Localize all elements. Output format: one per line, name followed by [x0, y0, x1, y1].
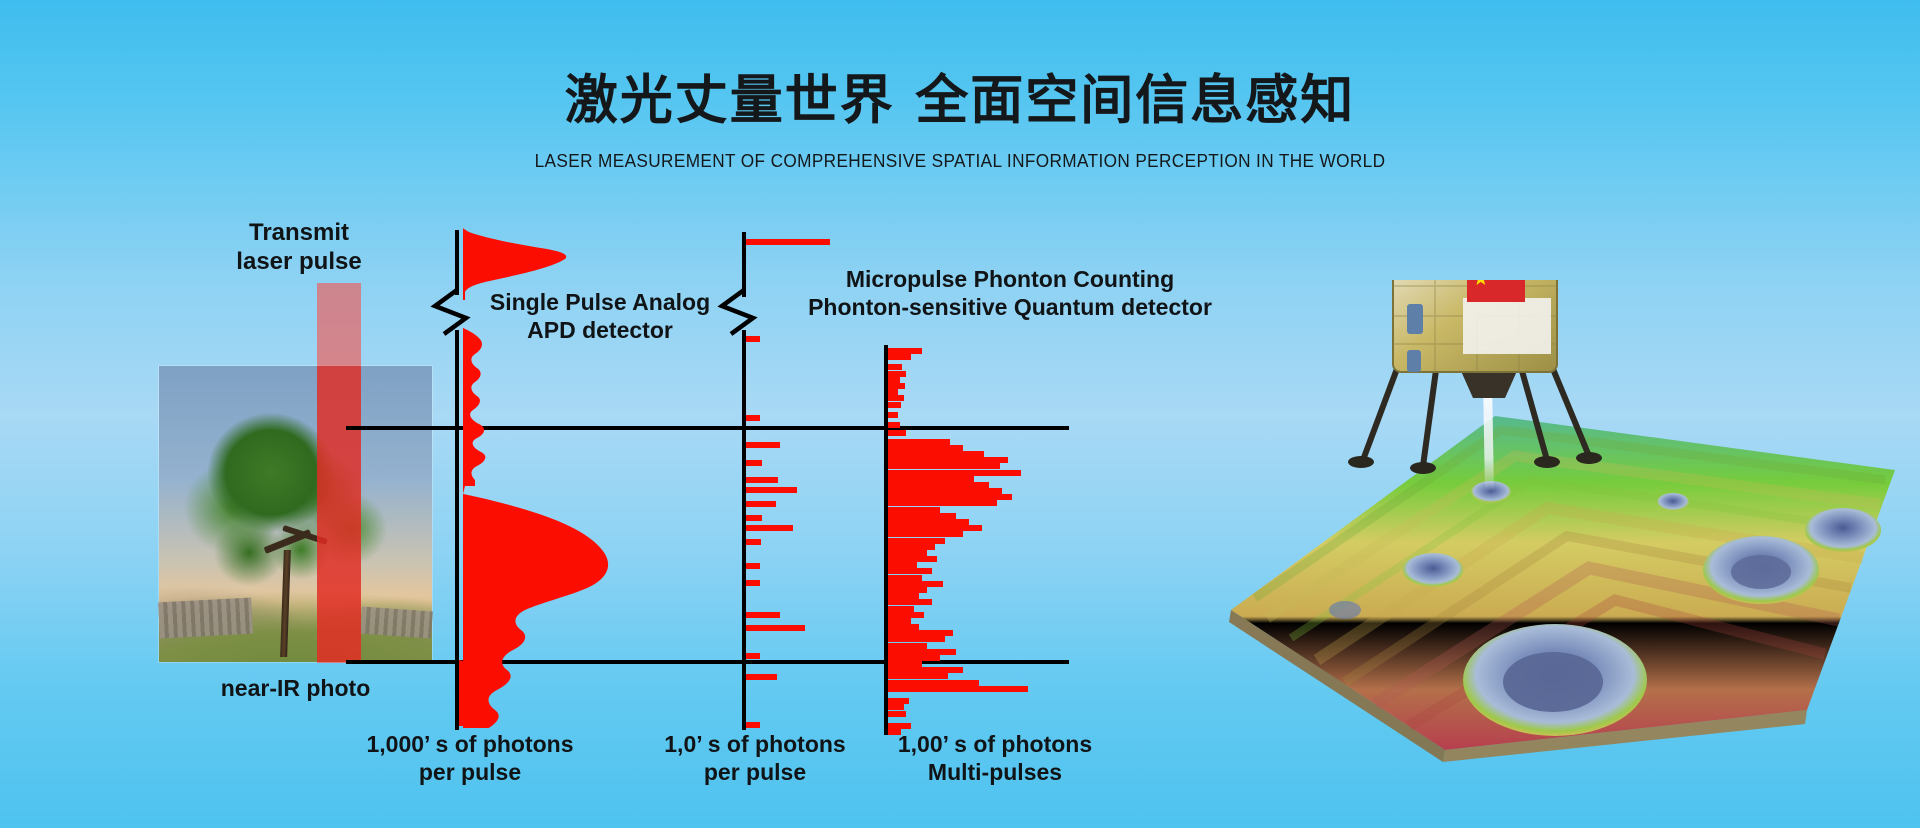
lander-panel-white	[1463, 298, 1551, 354]
left-detector-label: Single Pulse Analog APD detector	[455, 288, 745, 344]
spike-bar	[888, 698, 909, 704]
analog-ground-return-svg	[455, 660, 575, 740]
spike-bar	[888, 488, 1002, 494]
spike-bar	[888, 575, 922, 581]
spike-bar	[888, 402, 901, 408]
spike-bar	[888, 667, 963, 673]
spike-bar	[888, 383, 905, 389]
spike-bar	[888, 655, 940, 661]
crater-small-b	[1657, 493, 1689, 511]
spike-bar	[888, 476, 974, 482]
spike-bar	[888, 430, 906, 436]
spike-bar	[888, 581, 943, 587]
spike-bar	[888, 686, 1028, 692]
spike-bar	[746, 487, 797, 493]
spike-bar	[888, 482, 989, 488]
spike-bar	[888, 643, 927, 649]
spike-bar	[888, 630, 953, 636]
spike-bar	[888, 587, 927, 593]
spike-bar	[746, 239, 830, 245]
spike-bar	[746, 460, 762, 466]
spike-bar	[746, 674, 777, 680]
spike-bar	[746, 477, 778, 483]
spike-bar	[888, 395, 904, 401]
spike-bar	[888, 606, 914, 612]
axis-line-left-lower	[455, 330, 459, 730]
spike-bar	[888, 463, 1000, 469]
chinese-flag	[1467, 280, 1525, 302]
spike-bar	[746, 442, 780, 448]
spike-bar	[888, 364, 902, 370]
spike-bar	[888, 661, 922, 667]
spike-bar	[746, 625, 805, 631]
spike-bar	[888, 704, 904, 710]
spike-bar	[888, 494, 1012, 500]
spike-bar	[746, 415, 760, 421]
stone-wall-left	[158, 597, 253, 637]
laser-beam-ir-overlap	[317, 366, 361, 662]
spike-bar	[888, 422, 900, 428]
spike-bar	[888, 439, 950, 445]
spike-bar	[888, 568, 932, 574]
spike-bar	[888, 377, 900, 383]
spike-bar	[746, 539, 761, 545]
spike-bar	[888, 680, 979, 686]
spike-bar	[888, 371, 906, 377]
lander-sensor-a	[1407, 304, 1423, 334]
page-title: 激光丈量世界 全面空间信息感知	[0, 58, 1920, 134]
spike-bar	[888, 389, 898, 395]
spike-bar	[746, 612, 780, 618]
spike-bar	[888, 354, 911, 360]
spike-bar	[888, 470, 1021, 476]
spike-bar	[888, 445, 963, 451]
spike-bar	[888, 525, 982, 531]
spike-bar	[888, 519, 969, 525]
analog-ground-return-fill	[459, 660, 487, 726]
stone-wall-right	[360, 606, 433, 638]
lander-sensor-b	[1407, 350, 1421, 372]
spike-bar	[746, 515, 762, 521]
axis-line-left-upper	[455, 230, 459, 295]
near-ir-photo-label: near-IR photo	[188, 674, 403, 702]
spike-bar	[888, 612, 924, 618]
spike-bar	[746, 336, 760, 342]
spike-bar	[888, 531, 963, 537]
spike-bar	[888, 618, 911, 624]
footer-right-label: 1,00’ s of photons Multi-pulses	[870, 730, 1120, 786]
spike-bar	[888, 550, 927, 556]
spike-bar	[888, 723, 911, 729]
spike-bar	[888, 624, 919, 630]
spike-bar	[888, 457, 1008, 463]
spike-bar	[888, 538, 945, 544]
spike-bar	[746, 580, 760, 586]
infographic-canvas: 激光丈量世界 全面空间信息感知 LASER MEASUREMENT OF COM…	[0, 0, 1920, 828]
spike-bar	[888, 562, 917, 568]
spike-bar	[746, 722, 760, 728]
spike-bar	[888, 673, 948, 679]
near-ir-tree-photo	[159, 366, 432, 662]
crater-right-upper	[1805, 508, 1881, 552]
spike-bar	[746, 525, 793, 531]
spike-bar	[746, 563, 760, 569]
footer-left-label: 1,000’ s of photons per pulse	[350, 730, 590, 786]
spike-bar	[888, 513, 956, 519]
footer-middle-label: 1,0’ s of photons per pulse	[630, 730, 880, 786]
crater-left-mid	[1403, 553, 1463, 587]
lidar-terrain-scene	[1195, 280, 1895, 780]
spike-bar	[888, 412, 898, 418]
terrain-mesh	[1229, 416, 1895, 762]
spike-bar	[888, 348, 922, 354]
spike-bar	[888, 593, 919, 599]
spike-bar	[888, 500, 997, 506]
spike-bar	[888, 649, 956, 655]
spike-bar	[888, 556, 937, 562]
spike-bar	[888, 711, 906, 717]
spike-bar	[888, 544, 935, 550]
spike-bar	[888, 636, 945, 642]
transmit-laser-pulse-label: Transmit laser pulse	[194, 218, 404, 277]
spike-bar	[746, 501, 776, 507]
chart-single-pulse-analog-below-ground	[455, 660, 575, 740]
tree-trunk	[280, 550, 291, 657]
spike-bar	[746, 653, 760, 659]
crater-small-c	[1329, 601, 1361, 619]
spike-bar	[888, 507, 940, 513]
page-subtitle: LASER MEASUREMENT OF COMPREHENSIVE SPATI…	[67, 150, 1853, 172]
right-detector-label: Micropulse Phonton Counting Phonton-sens…	[790, 265, 1230, 321]
spike-bar	[888, 451, 984, 457]
spike-bar	[888, 599, 932, 605]
dense-spikes-group	[888, 348, 1148, 748]
